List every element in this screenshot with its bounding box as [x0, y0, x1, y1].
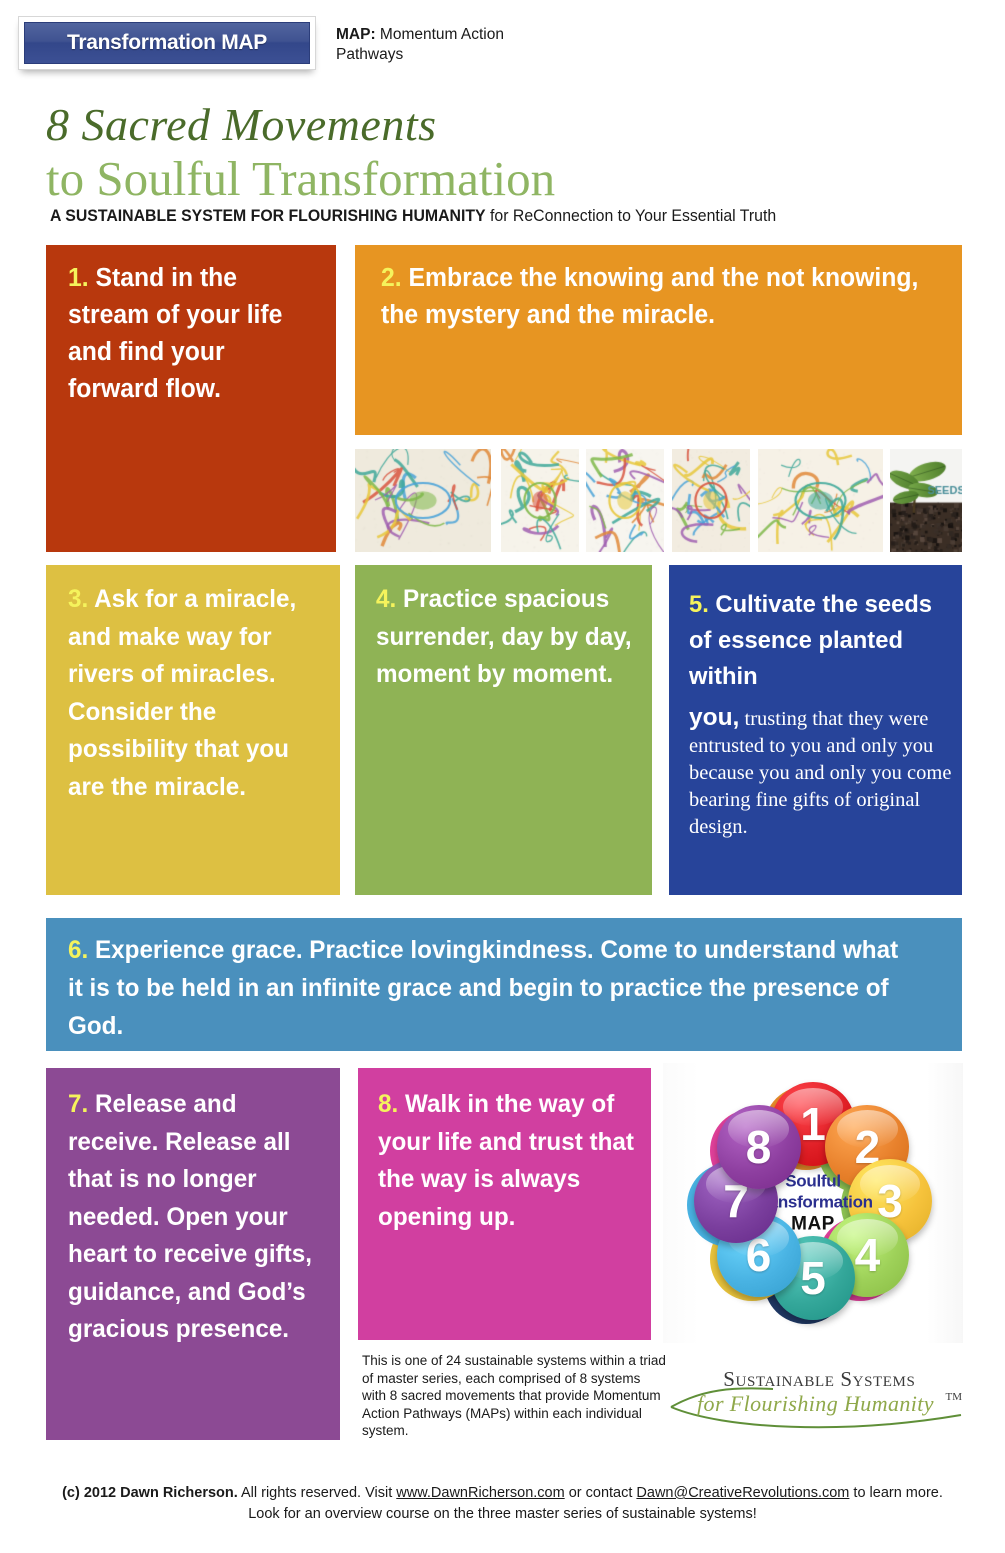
map-acronym-note: MAP: Momentum Action Pathways [336, 25, 516, 65]
logo-plate: Transformation MAP [24, 22, 310, 64]
subtitle-rest: for ReConnection to Your Essential Truth [486, 207, 777, 225]
movement-1-number: 1. [68, 264, 89, 292]
movement-3-number: 3. [68, 585, 88, 613]
thumbnail-strip [355, 449, 962, 552]
system-note: This is one of 24 sustainable systems wi… [362, 1352, 667, 1440]
map-acronym-label: MAP: [336, 26, 376, 43]
movement-card-6: 6. Experience grace. Practice lovingkind… [46, 918, 962, 1051]
footer-mid3: to learn more. [849, 1485, 943, 1501]
movement-card-1: 1. Stand in the stream of your life and … [46, 245, 336, 552]
movement-2-body: Embrace the knowing and the not knowing,… [381, 264, 918, 329]
movement-7-body: Release and receive. Release all that is… [68, 1090, 312, 1343]
movement-4-number: 4. [376, 585, 396, 613]
movement-card-4: 4. Practice spacious surrender, day by d… [355, 565, 652, 895]
soulful-transformation-map-diagram: 12345678 Soulful Transformation MAP [663, 1063, 963, 1343]
footer-line1: (c) 2012 Dawn Richerson. All rights rese… [0, 1483, 1005, 1504]
footer-line2: Look for an overview course on the three… [0, 1504, 1005, 1525]
movement-5-body: you, trusting that they were entrusted t… [689, 704, 955, 841]
page-footer: (c) 2012 Dawn Richerson. All rights rese… [0, 1483, 1005, 1525]
footer-mid2: or contact [565, 1485, 637, 1501]
thumbnail-3 [586, 449, 664, 552]
thumbnail-5 [758, 449, 883, 552]
footer-copyright: (c) 2012 Dawn Richerson. [62, 1485, 238, 1501]
subtitle-bold: A SUSTAINABLE SYSTEM FOR FLOURISHING HUM… [50, 207, 486, 225]
movement-5-headline: 5. Cultivate the seeds of essence plante… [689, 587, 943, 695]
movement-7-text: 7. Release and receive. Release all that… [68, 1086, 324, 1349]
movement-card-7: 7. Release and receive. Release all that… [46, 1068, 340, 1440]
movement-3-text: 3. Ask for a miracle, and make way for r… [68, 581, 322, 806]
movement-7-number: 7. [68, 1090, 88, 1118]
movement-card-3: 3. Ask for a miracle, and make way for r… [46, 565, 340, 895]
tagline-line2: for Flourishing Humanity [697, 1391, 934, 1417]
movement-5-number: 5. [689, 591, 709, 618]
diagram-circle-number: 8 [746, 1120, 772, 1174]
movement-card-5: 5. Cultivate the seeds of essence plante… [669, 565, 962, 895]
page-subtitle: A SUSTAINABLE SYSTEM FOR FLOURISHING HUM… [50, 207, 776, 226]
thumbnail-1 [355, 449, 491, 552]
diagram-circle-8[interactable]: 8 [717, 1105, 801, 1189]
movement-5-head-body: Cultivate the seeds of essence planted w… [689, 591, 932, 690]
movement-8-number: 8. [378, 1090, 398, 1118]
page-title-line2: to Soulful Transformation [46, 150, 555, 207]
movement-4-text: 4. Practice spacious surrender, day by d… [376, 581, 632, 694]
footer-mid1: All rights reserved. Visit [238, 1485, 397, 1501]
website-link[interactable]: www.DawnRicherson.com [396, 1485, 564, 1501]
tagline-line1: Sustainable Systems [723, 1367, 915, 1392]
movement-3-body: Ask for a miracle, and make way for rive… [68, 585, 296, 801]
page-title-line1: 8 Sacred Movements [46, 98, 437, 151]
movement-6-text: 6. Experience grace. Practice lovingkind… [68, 931, 902, 1045]
diagram-circle-number: 1 [800, 1097, 826, 1151]
movement-2-text: 2. Embrace the knowing and the not knowi… [381, 260, 924, 334]
page-header: Transformation MAP MAP: Momentum Action … [0, 0, 1005, 95]
movement-card-8: 8. Walk in the way of your life and trus… [358, 1068, 651, 1340]
movement-1-body: Stand in the stream of your life and fin… [68, 264, 282, 403]
movement-6-body: Experience grace. Practice lovingkindnes… [68, 936, 898, 1040]
trademark-symbol: TM [946, 1391, 963, 1403]
movement-6-number: 6. [68, 936, 88, 964]
transformation-map-logo: Transformation MAP [18, 16, 316, 70]
movement-1-text: 1. Stand in the stream of your life and … [68, 260, 311, 408]
movement-card-2: 2. Embrace the knowing and the not knowi… [355, 245, 962, 435]
logo-label: Transformation MAP [67, 31, 267, 55]
movement-8-text: 8. Walk in the way of your life and trus… [378, 1086, 634, 1236]
movement-2-number: 2. [381, 264, 402, 292]
movement-4-body: Practice spacious surrender, day by day,… [376, 585, 632, 688]
diagram-circle-number: 4 [855, 1228, 881, 1282]
thumbnail-6-seeds [890, 449, 962, 552]
sustainable-systems-tagline: Sustainable Systems for Flourishing Huma… [663, 1367, 968, 1442]
diagram-circle-number: 5 [800, 1251, 826, 1305]
thumbnail-4 [672, 449, 750, 552]
movement-8-body: Walk in the way of your life and trust t… [378, 1090, 634, 1231]
thumbnail-2 [501, 449, 579, 552]
email-link[interactable]: Dawn@CreativeRevolutions.com [636, 1485, 849, 1501]
movement-5-body-lead: you, [689, 704, 739, 731]
